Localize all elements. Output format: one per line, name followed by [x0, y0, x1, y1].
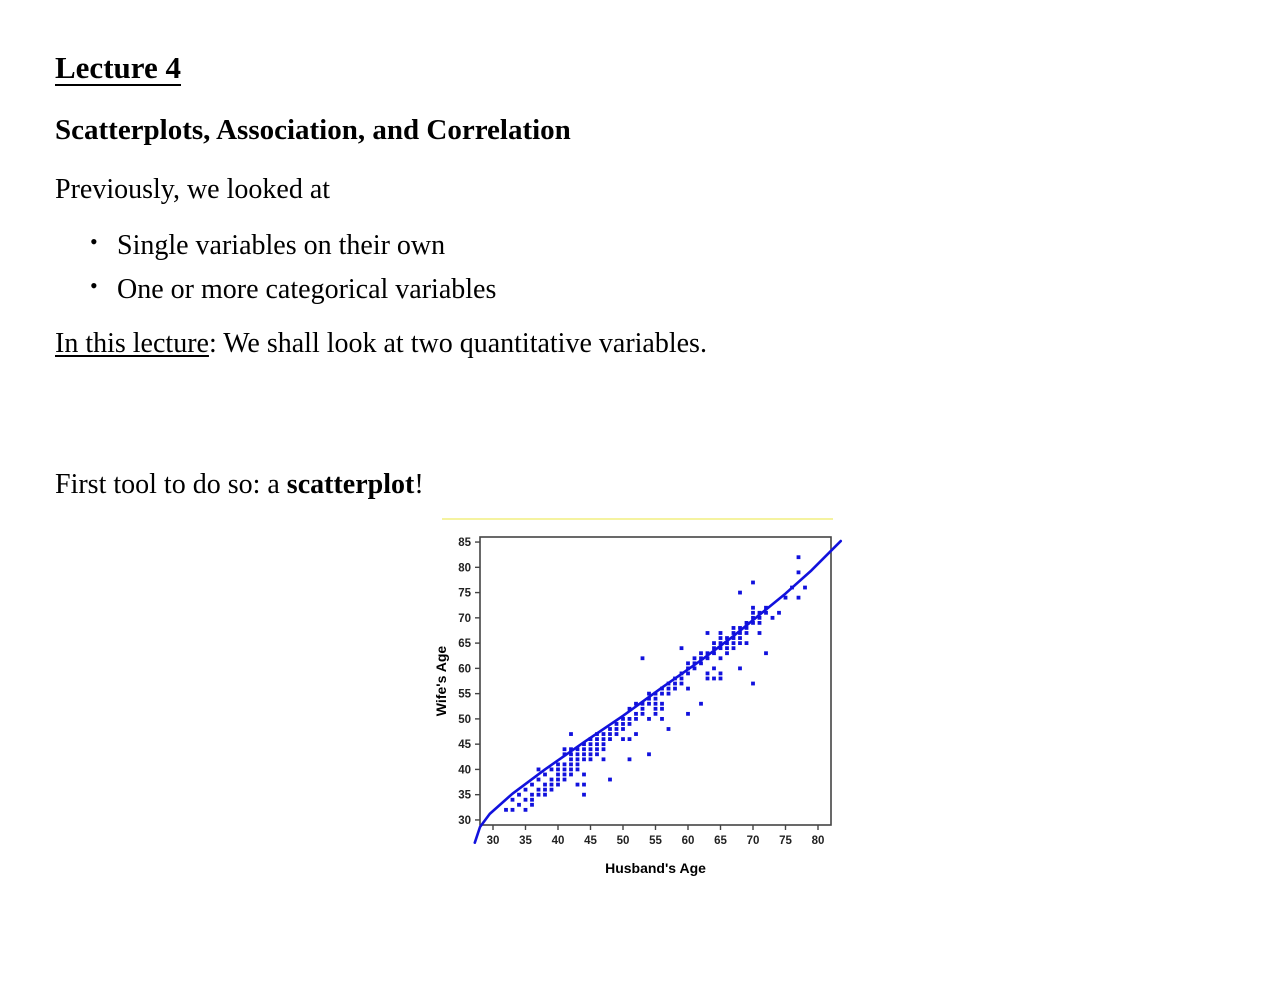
data-point: [524, 808, 528, 812]
data-point: [589, 752, 593, 756]
data-point: [751, 606, 755, 610]
data-point: [556, 762, 560, 766]
data-point: [576, 752, 580, 756]
data-point: [569, 732, 573, 736]
data-point: [673, 687, 677, 691]
data-point: [576, 768, 580, 772]
data-point: [712, 641, 716, 645]
y-axis-tick-label: 40: [458, 764, 471, 776]
data-point: [602, 742, 606, 746]
data-point: [641, 707, 645, 711]
list-item: One or more categorical variables: [55, 276, 1215, 304]
data-point: [550, 778, 554, 782]
x-axis-tick-label: 65: [714, 835, 727, 847]
data-point: [524, 798, 528, 802]
data-point: [738, 666, 742, 670]
first-tool-line: First tool to do so: a scatterplot!: [55, 471, 424, 499]
data-point: [654, 697, 658, 701]
data-point: [719, 631, 723, 635]
x-axis-tick-label: 75: [779, 835, 792, 847]
data-point: [712, 677, 716, 681]
data-point: [719, 672, 723, 676]
data-point: [647, 752, 651, 756]
data-point: [608, 727, 612, 731]
x-axis-tick-label: 50: [617, 835, 630, 847]
data-point: [582, 773, 586, 777]
y-axis-tick-label: 45: [458, 739, 471, 751]
data-point: [569, 768, 573, 772]
data-point: [589, 742, 593, 746]
data-point: [537, 788, 541, 792]
data-point: [582, 757, 586, 761]
data-point: [589, 757, 593, 761]
data-point: [777, 611, 781, 615]
data-point: [550, 788, 554, 792]
y-axis-tick-label: 35: [458, 790, 471, 802]
y-axis-tick-label: 55: [458, 689, 471, 701]
data-point: [719, 656, 723, 660]
x-axis-tick-label: 40: [552, 835, 565, 847]
data-point: [569, 773, 573, 777]
data-point: [563, 773, 567, 777]
data-point: [634, 732, 638, 736]
data-point: [621, 722, 625, 726]
y-axis-tick-label: 65: [458, 638, 471, 650]
data-point: [686, 661, 690, 665]
data-point: [582, 793, 586, 797]
data-point: [673, 682, 677, 686]
data-point: [660, 707, 664, 711]
data-point: [608, 732, 612, 736]
data-point: [595, 737, 599, 741]
data-point: [576, 757, 580, 761]
data-point: [589, 747, 593, 751]
data-point: [595, 752, 599, 756]
data-point: [621, 737, 625, 741]
data-point: [543, 793, 547, 797]
data-point: [758, 621, 762, 625]
data-point: [803, 586, 807, 590]
x-axis-tick-label: 30: [487, 835, 500, 847]
data-point: [771, 616, 775, 620]
data-point: [634, 712, 638, 716]
data-point: [641, 712, 645, 716]
data-point: [582, 747, 586, 751]
data-point: [563, 778, 567, 782]
data-point: [719, 636, 723, 640]
data-point: [628, 757, 632, 761]
data-point: [576, 783, 580, 787]
data-point: [530, 803, 534, 807]
data-point: [797, 570, 801, 574]
data-point: [686, 672, 690, 676]
data-point: [706, 631, 710, 635]
data-point: [569, 762, 573, 766]
intro-paragraph: Previously, we looked at: [55, 176, 1215, 204]
y-axis-tick-label: 75: [458, 588, 471, 600]
lecture-title: Lecture 4: [55, 52, 181, 86]
x-axis-title: Husband's Age: [605, 860, 706, 876]
data-point: [537, 768, 541, 772]
first-tool-keyword: scatterplot: [287, 469, 415, 500]
data-point: [712, 666, 716, 670]
data-point: [751, 611, 755, 615]
x-axis-tick-label: 70: [747, 835, 760, 847]
data-point: [524, 788, 528, 792]
data-point: [680, 682, 684, 686]
data-point: [517, 803, 521, 807]
data-point: [745, 641, 749, 645]
data-point: [556, 783, 560, 787]
data-point: [751, 581, 755, 585]
y-axis-tick-label: 60: [458, 663, 471, 675]
data-point: [543, 773, 547, 777]
data-point: [706, 672, 710, 676]
plot-frame: [480, 537, 831, 825]
first-tool-prefix: First tool to do so: a: [55, 469, 287, 500]
data-point: [680, 677, 684, 681]
data-point: [595, 742, 599, 746]
data-point: [725, 646, 729, 650]
data-point: [732, 626, 736, 630]
data-point: [628, 737, 632, 741]
list-item: Single variables on their own: [55, 232, 1215, 260]
lecture-title-wrap: Lecture 4: [55, 52, 1215, 116]
lecture-note-rest: : We shall look at two quantitative vari…: [209, 328, 707, 359]
data-point: [563, 768, 567, 772]
data-point: [660, 702, 664, 706]
fit-line: [475, 541, 841, 843]
data-point: [563, 747, 567, 751]
data-point: [621, 727, 625, 731]
data-point: [608, 778, 612, 782]
data-point: [550, 783, 554, 787]
data-point: [797, 555, 801, 559]
data-point: [569, 757, 573, 761]
data-point: [732, 646, 736, 650]
data-point: [699, 702, 703, 706]
data-point: [537, 778, 541, 782]
data-point: [680, 646, 684, 650]
data-point: [797, 596, 801, 600]
lecture-note: In this lecture: We shall look at two qu…: [55, 330, 1215, 358]
data-point: [511, 798, 515, 802]
data-point: [764, 651, 768, 655]
data-point: [738, 591, 742, 595]
data-point: [543, 788, 547, 792]
x-axis-tick-label: 55: [649, 835, 662, 847]
data-point: [602, 757, 606, 761]
scatterplot-figure: 3035404550556065707580853035404550556065…: [430, 505, 900, 895]
x-axis-tick-label: 80: [812, 835, 825, 847]
data-point: [563, 762, 567, 766]
data-point: [543, 783, 547, 787]
lecture-note-emphasis: In this lecture: [55, 328, 209, 359]
slide-text-block: Lecture 4 Scatterplots, Association, and…: [55, 52, 1215, 358]
data-point: [582, 783, 586, 787]
data-point: [582, 752, 586, 756]
data-point: [530, 798, 534, 802]
data-point: [530, 793, 534, 797]
data-point: [628, 717, 632, 721]
data-point: [608, 737, 612, 741]
data-point: [654, 712, 658, 716]
data-point: [660, 717, 664, 721]
data-point: [738, 636, 742, 640]
data-point: [667, 727, 671, 731]
y-axis-title: Wife's Age: [433, 646, 449, 717]
scatterplot-svg: 3035404550556065707580853035404550556065…: [430, 505, 900, 895]
data-point: [504, 808, 508, 812]
data-point: [576, 762, 580, 766]
data-point: [530, 783, 534, 787]
data-point: [511, 808, 515, 812]
data-point: [738, 641, 742, 645]
data-point: [634, 717, 638, 721]
slide-heading: Scatterplots, Association, and Correlati…: [55, 116, 1215, 145]
y-axis-tick-label: 70: [458, 613, 471, 625]
x-axis-tick-label: 45: [584, 835, 597, 847]
slide-canvas: Lecture 4 Scatterplots, Association, and…: [0, 0, 1280, 989]
data-point: [556, 768, 560, 772]
data-point: [615, 727, 619, 731]
data-point: [758, 631, 762, 635]
data-point: [706, 677, 710, 681]
data-point: [537, 793, 541, 797]
data-point: [647, 702, 651, 706]
data-point: [725, 651, 729, 655]
data-point: [647, 717, 651, 721]
data-point: [732, 641, 736, 645]
data-point: [654, 707, 658, 711]
data-point: [686, 712, 690, 716]
data-point: [654, 702, 658, 706]
data-point: [660, 692, 664, 696]
x-axis-tick-label: 35: [519, 835, 532, 847]
data-point: [699, 651, 703, 655]
data-point: [751, 682, 755, 686]
data-point: [615, 732, 619, 736]
data-point: [602, 737, 606, 741]
data-point: [667, 692, 671, 696]
data-point: [667, 687, 671, 691]
data-point: [602, 732, 606, 736]
y-axis-tick-label: 85: [458, 537, 471, 549]
data-point: [556, 773, 560, 777]
y-axis-tick-label: 80: [458, 562, 471, 574]
y-axis-tick-label: 30: [458, 815, 471, 827]
data-point: [693, 656, 697, 660]
data-point: [517, 793, 521, 797]
data-point: [686, 687, 690, 691]
data-point: [550, 768, 554, 772]
data-point: [602, 747, 606, 751]
data-point: [628, 722, 632, 726]
data-point: [745, 631, 749, 635]
data-point: [556, 778, 560, 782]
y-axis-tick-label: 50: [458, 714, 471, 726]
data-points-group: [504, 555, 807, 811]
data-point: [719, 677, 723, 681]
first-tool-suffix: !: [414, 469, 423, 500]
data-point: [641, 656, 645, 660]
data-point: [595, 747, 599, 751]
x-axis-tick-label: 60: [682, 835, 695, 847]
bullet-list: Single variables on their own One or mor…: [55, 232, 1215, 304]
